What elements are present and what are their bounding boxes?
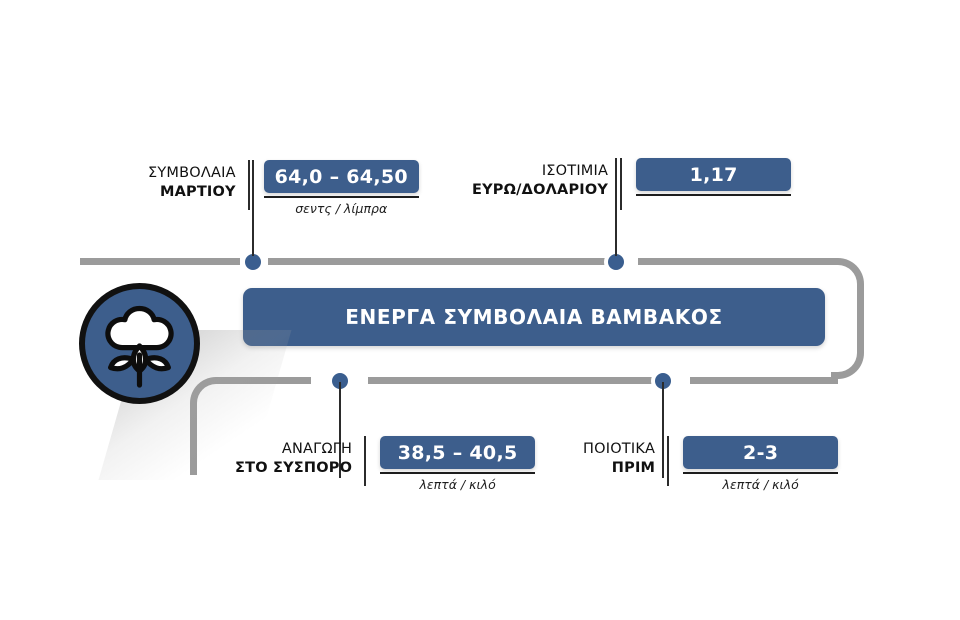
metric-anagogi-sto-sysporo: ΑΝΑΓΩΓΗ ΣΤΟ ΣΥΣΠΟΡΟ 38,5 – 40,5 λεπτά / … xyxy=(235,436,535,486)
metric-symvolaia-martiou: ΣΥΜΒΟΛΑΙΑ ΜΑΡΤΙΟΥ 64,0 – 64,50 σεντς / λ… xyxy=(148,160,419,210)
track-lower-right-segment xyxy=(690,377,838,384)
track-upper-right-segment xyxy=(638,258,838,265)
metric-value-group-poiotika-prim: 2-3 λεπτά / κιλό xyxy=(669,436,838,492)
metric-value-poiotika-prim: 2-3 xyxy=(683,436,838,469)
track-upper-middle-segment xyxy=(268,258,610,265)
metric-value-group-isotimia: 1,17 xyxy=(622,158,791,199)
metric-label-line2: ΜΑΡΤΙΟΥ xyxy=(148,183,236,202)
node-dot-isotimia[interactable] xyxy=(608,254,624,270)
metric-value-group-anagogi: 38,5 – 40,5 λεπτά / κιλό xyxy=(366,436,535,492)
metric-label-isotimia: ΙΣΟΤΙΜΙΑ ΕΥΡΩ/ΔΟΛΑΡΙΟΥ xyxy=(472,158,620,200)
metric-value-rule xyxy=(264,196,419,198)
metric-label-line2: ΠΡΙΜ xyxy=(583,459,655,478)
metric-label-poiotika-prim: ΠΟΙΟΤΙΚΑ ΠΡΙΜ xyxy=(583,436,667,478)
main-banner-label: ΕΝΕΡΓΑ ΣΥΜΒΟΛΑΙΑ ΒΑΜΒΑΚΟΣ xyxy=(345,305,723,329)
cotton-boll-icon xyxy=(79,283,200,404)
metric-label-line1: ΙΣΟΤΙΜΙΑ xyxy=(472,162,608,181)
track-corner-top-right xyxy=(831,258,864,291)
metric-label-line1: ΣΥΜΒΟΛΑΙΑ xyxy=(148,164,236,183)
metric-label-line2: ΕΥΡΩ/ΔΟΛΑΡΙΟΥ xyxy=(472,181,608,200)
metric-value-isotimia: 1,17 xyxy=(636,158,791,191)
main-banner: ΕΝΕΡΓΑ ΣΥΜΒΟΛΑΙΑ ΒΑΜΒΑΚΟΣ xyxy=(243,288,825,346)
track-right-vertical xyxy=(857,290,864,352)
node-dot-symvolaia-martiou[interactable] xyxy=(245,254,261,270)
track-corner-bottom-right xyxy=(831,346,864,379)
metric-value-anagogi: 38,5 – 40,5 xyxy=(380,436,535,469)
metric-label-symvolaia-martiou: ΣΥΜΒΟΛΑΙΑ ΜΑΡΤΙΟΥ xyxy=(148,160,248,202)
track-upper-left-segment xyxy=(80,258,240,265)
metric-label-line1: ΠΟΙΟΤΙΚΑ xyxy=(583,440,655,459)
metric-unit-anagogi: λεπτά / κιλό xyxy=(380,477,535,492)
metric-value-group-symvolaia-martiou: 64,0 – 64,50 σεντς / λίμπρα xyxy=(250,160,419,216)
metric-value-rule xyxy=(636,194,791,196)
metric-value-symvolaia-martiou: 64,0 – 64,50 xyxy=(264,160,419,193)
track-lower-middle-segment xyxy=(368,377,653,384)
metric-poiotika-prim: ΠΟΙΟΤΙΚΑ ΠΡΙΜ 2-3 λεπτά / κιλό xyxy=(583,436,838,486)
metric-unit-symvolaia-martiou: σεντς / λίμπρα xyxy=(264,201,419,216)
metric-value-rule xyxy=(683,472,838,474)
infographic-canvas: ΣΥΜΒΟΛΑΙΑ ΜΑΡΤΙΟΥ 64,0 – 64,50 σεντς / λ… xyxy=(0,0,960,620)
metric-isotimia-evro-dolariou: ΙΣΟΤΙΜΙΑ ΕΥΡΩ/ΔΟΛΑΡΙΟΥ 1,17 xyxy=(472,158,791,210)
metric-value-rule xyxy=(380,472,535,474)
metric-unit-poiotika-prim: λεπτά / κιλό xyxy=(683,477,838,492)
